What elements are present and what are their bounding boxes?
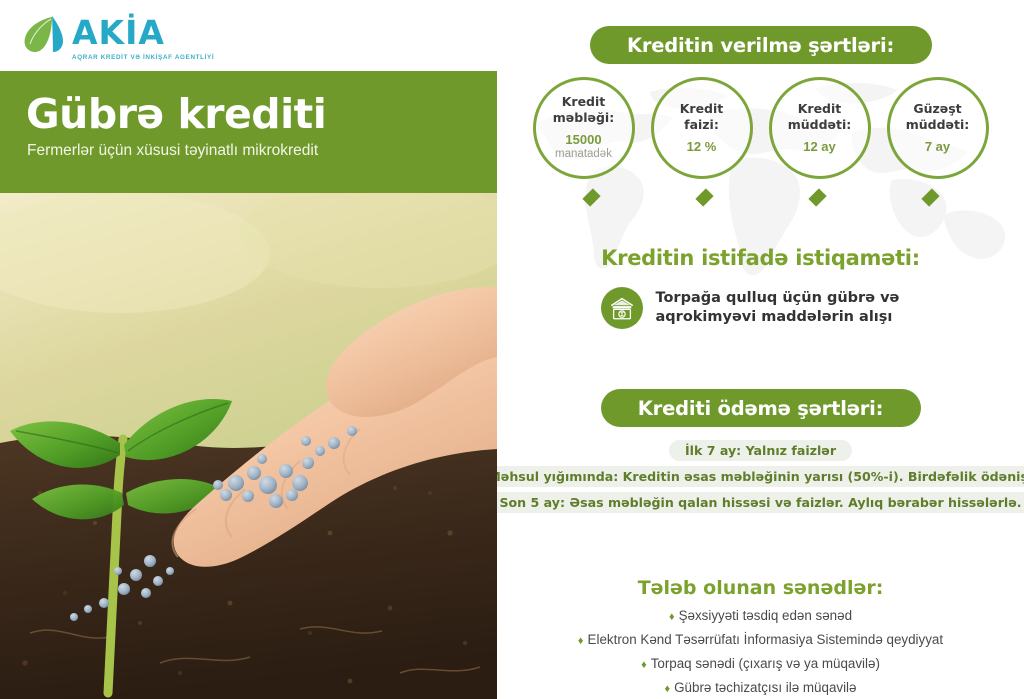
- circle-value-sub: manatadək: [555, 148, 612, 162]
- brand-logo: AKİA AQRAR KREDİT VƏ İNKİŞAF AGENTLİYİ: [22, 14, 214, 61]
- repayment-header-pill: Krediti ödəmə şərtləri:: [601, 389, 921, 427]
- circle-label: Kredit müddəti:: [788, 101, 852, 132]
- right-panel: Kreditin verilmə şərtləri: Kredit məbləğ…: [497, 0, 1024, 699]
- conditions-circles: Kredit məbləği: 15000 manatadək Kredit f…: [497, 77, 1024, 179]
- leaf-logo-icon: [22, 14, 65, 56]
- circle-value-main: 12 ay: [803, 139, 836, 154]
- circle-label: Kredit faizi:: [680, 101, 724, 132]
- circle-value-main: 12 %: [687, 139, 717, 154]
- document-item-label: Şəxsiyyəti təsdiq edən sənəd: [679, 608, 852, 623]
- brand-tagline: AQRAR KREDİT VƏ İNKİŞAF AGENTLİYİ: [72, 54, 214, 61]
- circle-value: 7 ay: [925, 139, 950, 155]
- diamond-icon: [582, 188, 600, 206]
- circle-label-line2: faizi:: [684, 117, 719, 132]
- fertilizer-warehouse-icon: [601, 287, 643, 329]
- circle-label-line2: müddəti:: [906, 117, 970, 132]
- circle-value: 12 ay: [803, 139, 836, 155]
- circle-value: 15000 manatadək: [555, 132, 612, 161]
- repayment-item: Məhsul yığımında: Kreditin əsas məbləğin…: [497, 466, 1024, 487]
- repayment-item: Son 5 ay: Əsas məbləğin qalan hissəsi və…: [497, 492, 1024, 513]
- repayment-item: İlk 7 ay: Yalnız faizlər: [669, 440, 852, 461]
- title-band: Gübrə krediti Fermerlər üçün xüsusi təyi…: [0, 71, 497, 193]
- circle-value-main: 15000: [565, 132, 601, 147]
- diamond-bullet-icon: ♦: [578, 635, 584, 647]
- circle-value-main: 7 ay: [925, 139, 950, 154]
- circle-label-line1: Kredit: [562, 94, 606, 109]
- diamond-bullet-icon: ♦: [665, 683, 671, 695]
- document-item-label: Torpaq sənədi (çıxarış və ya müqavilə): [651, 656, 880, 671]
- document-item: ♦Gübrə təchizatçısı ilə müqavilə: [665, 680, 857, 695]
- circle-credit-amount: Kredit məbləği: 15000 manatadək: [533, 77, 635, 179]
- diamond-icon: [808, 188, 826, 206]
- document-item: ♦Torpaq sənədi (çıxarış və ya müqavilə): [641, 656, 880, 671]
- usage-section-title: Kreditin istifadə istiqaməti:: [497, 246, 1024, 270]
- diamond-icon: [695, 188, 713, 206]
- usage-description: Torpağa qulluq üçün gübrə və aqrokimyəvi…: [656, 289, 921, 327]
- brand-text-block: AKİA AQRAR KREDİT VƏ İNKİŞAF AGENTLİYİ: [72, 14, 214, 61]
- repayment-header-label: Krediti ödəmə şərtləri:: [638, 397, 883, 420]
- circle-grace-period: Güzəşt müddəti: 7 ay: [887, 77, 989, 179]
- repayment-conditions-list: İlk 7 ay: Yalnız faizlər Məhsul yığımınd…: [497, 440, 1024, 513]
- infographic-page: AKİA AQRAR KREDİT VƏ İNKİŞAF AGENTLİYİ G…: [0, 0, 1024, 699]
- circle-label-line1: Güzəşt: [913, 101, 961, 116]
- document-item: ♦Şəxsiyyəti təsdiq edən sənəd: [669, 608, 852, 623]
- document-item-label: Elektron Kənd Təsərrüfatı İnformasiya Si…: [588, 632, 944, 647]
- circle-value: 12 %: [687, 139, 717, 155]
- usage-row: Torpağa qulluq üçün gübrə və aqrokimyəvi…: [497, 287, 1024, 329]
- conditions-header-pill: Kreditin verilmə şərtləri:: [590, 26, 932, 64]
- document-item-label: Gübrə təchizatçısı ilə müqavilə: [674, 680, 856, 695]
- diamond-bullet-icon: ♦: [641, 659, 647, 671]
- circle-label: Kredit məbləği:: [553, 94, 614, 125]
- circle-label-line2: məbləği:: [553, 110, 614, 125]
- diamond-separators: [497, 192, 1024, 203]
- documents-section-title: Tələb olunan sənədlər:: [497, 577, 1024, 599]
- circle-credit-term: Kredit müddəti: 12 ay: [769, 77, 871, 179]
- brand-name: AKİA: [72, 16, 214, 49]
- circle-label: Güzəşt müddəti:: [906, 101, 970, 132]
- circle-label-line1: Kredit: [680, 101, 724, 116]
- diamond-icon: [921, 188, 939, 206]
- left-panel: AKİA AQRAR KREDİT VƏ İNKİŞAF AGENTLİYİ G…: [0, 0, 497, 699]
- fertilizer-photo: [0, 193, 497, 699]
- circle-credit-rate: Kredit faizi: 12 %: [651, 77, 753, 179]
- diamond-bullet-icon: ♦: [669, 611, 675, 623]
- page-title: Gübrə krediti: [0, 71, 497, 136]
- circle-label-line1: Kredit: [798, 101, 842, 116]
- conditions-header-label: Kreditin verilmə şərtləri:: [627, 34, 894, 57]
- documents-list: ♦Şəxsiyyəti təsdiq edən sənəd ♦Elektron …: [497, 608, 1024, 695]
- document-item: ♦Elektron Kənd Təsərrüfatı İnformasiya S…: [578, 632, 943, 647]
- circle-label-line2: müddəti:: [788, 117, 852, 132]
- page-subtitle: Fermerlər üçün xüsusi təyinatlı mikrokre…: [0, 136, 497, 160]
